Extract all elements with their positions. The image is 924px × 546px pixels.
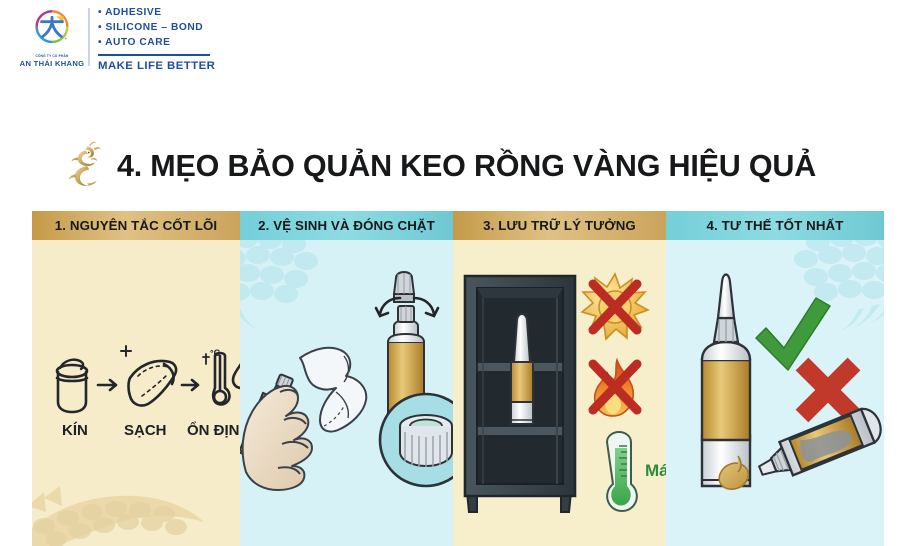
- panel-3-ideal-storage[interactable]: 3. LƯU TRỮ LÝ TƯỞNG: [453, 211, 666, 546]
- upright-glue-tube-illustration: [702, 275, 750, 487]
- tips-panel-grid: 1. NGUYÊN TẮC CỐT LÕI: [32, 211, 884, 546]
- cap-twisting-onto-tube-illustration: [376, 272, 453, 486]
- panel-1-header: 1. NGUYÊN TẮC CỐT LÕI: [32, 211, 240, 240]
- company-name: AN THÁI KHANG: [20, 59, 85, 68]
- panel-3-cool-label: Mát: [645, 461, 666, 480]
- panel-1-temp-unit: °C: [210, 348, 221, 358]
- green-check-icon: [756, 298, 830, 370]
- section-title-row: 4. MẸO BẢO QUẢN KEO RỒNG VÀNG HIỆU QUẢ: [55, 140, 816, 192]
- panel-1-step-2-label: SẠCH: [124, 422, 167, 439]
- golden-dragon-emblem-icon: [55, 140, 107, 192]
- red-cross-icon: [802, 364, 854, 416]
- arrow-right-icon-2: [182, 380, 198, 390]
- no-fire-crossed-flame-icon: [593, 360, 637, 416]
- panel-2-header: 2. VỆ SINH VÀ ĐÓNG CHẶT: [240, 211, 453, 240]
- brand-bullet-list: • ADHESIVE • SILICONE – BOND • AUTO CARE: [98, 6, 215, 50]
- panel-4-best-position[interactable]: 4. TƯ THẾ TỐT NHẤT: [666, 211, 884, 546]
- brand-text-block: • ADHESIVE • SILICONE – BOND • AUTO CARE…: [98, 6, 215, 72]
- brand-bullet-adhesive: • ADHESIVE: [98, 6, 215, 20]
- sealed-jar-icon: [57, 360, 87, 412]
- panel-1-step-1-label: KÍN: [62, 422, 88, 439]
- brand-divider: [88, 8, 90, 66]
- company-logo[interactable]: CÔNG TY CỔ PHẦN AN THÁI KHANG: [14, 8, 90, 68]
- no-sunlight-crossed-sun-icon: [582, 274, 648, 339]
- thermometer-humidity-icon: [203, 353, 240, 404]
- footer-caption-3: [453, 497, 666, 507]
- gloved-hand-wiping-tube-illustration: [240, 348, 366, 490]
- footer-caption-4: [666, 497, 884, 507]
- brand-bullet-silicone-bond: • SILICONE – BOND: [98, 21, 215, 35]
- panel-1-core-principles[interactable]: 1. NGUYÊN TẮC CỐT LÕI: [32, 211, 240, 546]
- footer-caption-1: [32, 497, 240, 507]
- footer-caption-2: [240, 497, 453, 507]
- panel-4-header: 4. TƯ THẾ TỐT NHẤT: [666, 211, 884, 240]
- arrow-right-icon-1: [98, 380, 116, 390]
- an-thai-khang-circular-logo-icon: [24, 8, 80, 54]
- brand-header: CÔNG TY CỔ PHẦN AN THÁI KHANG • ADHESIVE…: [0, 0, 924, 88]
- panel-3-header: 3. LƯU TRỮ LÝ TƯỞNG: [453, 211, 666, 240]
- page-title: 4. MẸO BẢO QUẢN KEO RỒNG VÀNG HIỆU QUẢ: [117, 149, 816, 184]
- brand-bullet-auto-care: • AUTO CARE: [98, 36, 215, 50]
- dark-storage-cabinet-with-tube-illustration: [465, 276, 575, 512]
- clean-cloth-icon: [121, 346, 176, 406]
- panel-1-step-3-label: ỔN ĐỊNH: [187, 421, 240, 439]
- footer-caption-sliver: [32, 497, 884, 507]
- wiping-cloth: [300, 348, 366, 432]
- brand-tagline: MAKE LIFE BETTER: [98, 60, 215, 72]
- brand-rule-divider: [98, 54, 210, 56]
- company-prefix: CÔNG TY CỔ PHẦN: [35, 54, 68, 58]
- panel-2-clean-and-close[interactable]: 2. VỆ SINH VÀ ĐÓNG CHẶT: [240, 211, 453, 546]
